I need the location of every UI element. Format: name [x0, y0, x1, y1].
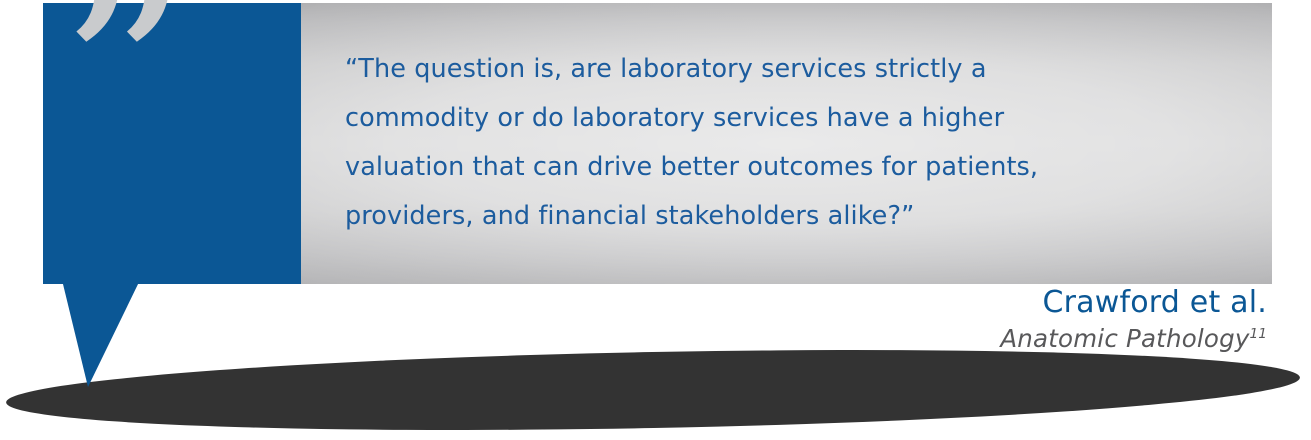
attribution: Crawford et al. Anatomic Pathology11 [1000, 288, 1267, 352]
speech-bubble-tail-shape [43, 280, 163, 392]
quote-text: “The question is, are laboratory service… [345, 45, 1215, 241]
reference-superscript: 11 [1250, 326, 1267, 342]
drop-shadow-ellipse [5, 340, 1300, 440]
quote-panel-background: “The question is, are laboratory service… [300, 3, 1272, 284]
attribution-author: Crawford et al. [1000, 288, 1267, 318]
quotation-mark-icon: ” [58, 0, 288, 178]
attribution-source-title: Anatomic Pathology [1000, 324, 1249, 353]
attribution-source: Anatomic Pathology11 [1000, 327, 1267, 352]
speech-bubble-tail [43, 280, 163, 392]
pull-quote-graphic: “The question is, are laboratory service… [0, 0, 1311, 438]
